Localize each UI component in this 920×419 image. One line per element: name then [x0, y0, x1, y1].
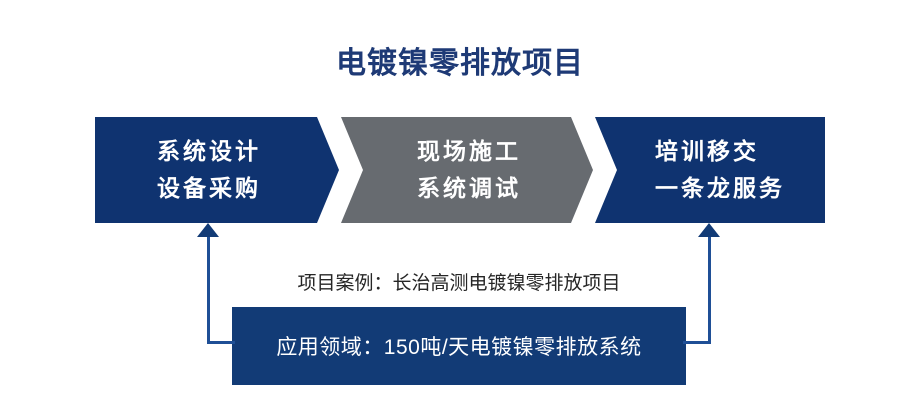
- step-line-2: 系统调试: [417, 177, 521, 200]
- connector-right-horizontal: [683, 341, 711, 344]
- application-field-text: 应用领域：150吨/天电镀镍零排放系统: [276, 331, 641, 361]
- step-line-2: 设备采购: [157, 177, 261, 200]
- application-field-bar[interactable]: 应用领域：150吨/天电镀镍零排放系统: [232, 307, 686, 385]
- process-step-construction-commissioning[interactable]: 现场施工 系统调试: [341, 117, 593, 223]
- step-text-wrapper: 系统设计 设备采购: [157, 140, 261, 200]
- step-text-wrapper: 培训移交 一条龙服务: [655, 140, 785, 200]
- process-step-design-procurement[interactable]: 系统设计 设备采购: [95, 117, 339, 223]
- connector-right-vertical: [708, 235, 711, 343]
- arrow-up-icon-right: [698, 223, 720, 237]
- diagram-canvas: 电镀镍零排放项目 系统设计 设备采购 现场施工 系统调试 培训移交 一条龙服务 …: [0, 0, 920, 419]
- process-step-training-handover[interactable]: 培训移交 一条龙服务: [595, 117, 825, 223]
- arrow-up-icon-left: [197, 223, 219, 237]
- step-line-1: 培训移交: [655, 140, 785, 163]
- step-text-wrapper: 现场施工 系统调试: [417, 140, 521, 200]
- connector-left-vertical: [207, 235, 210, 343]
- step-line-1: 现场施工: [417, 140, 521, 163]
- step-line-1: 系统设计: [157, 140, 261, 163]
- page-title: 电镀镍零排放项目: [0, 38, 920, 82]
- case-study-label: 项目案例：长治高测电镀镍零排放项目: [232, 268, 686, 295]
- connector-left-horizontal: [207, 341, 235, 344]
- step-line-2: 一条龙服务: [655, 177, 785, 200]
